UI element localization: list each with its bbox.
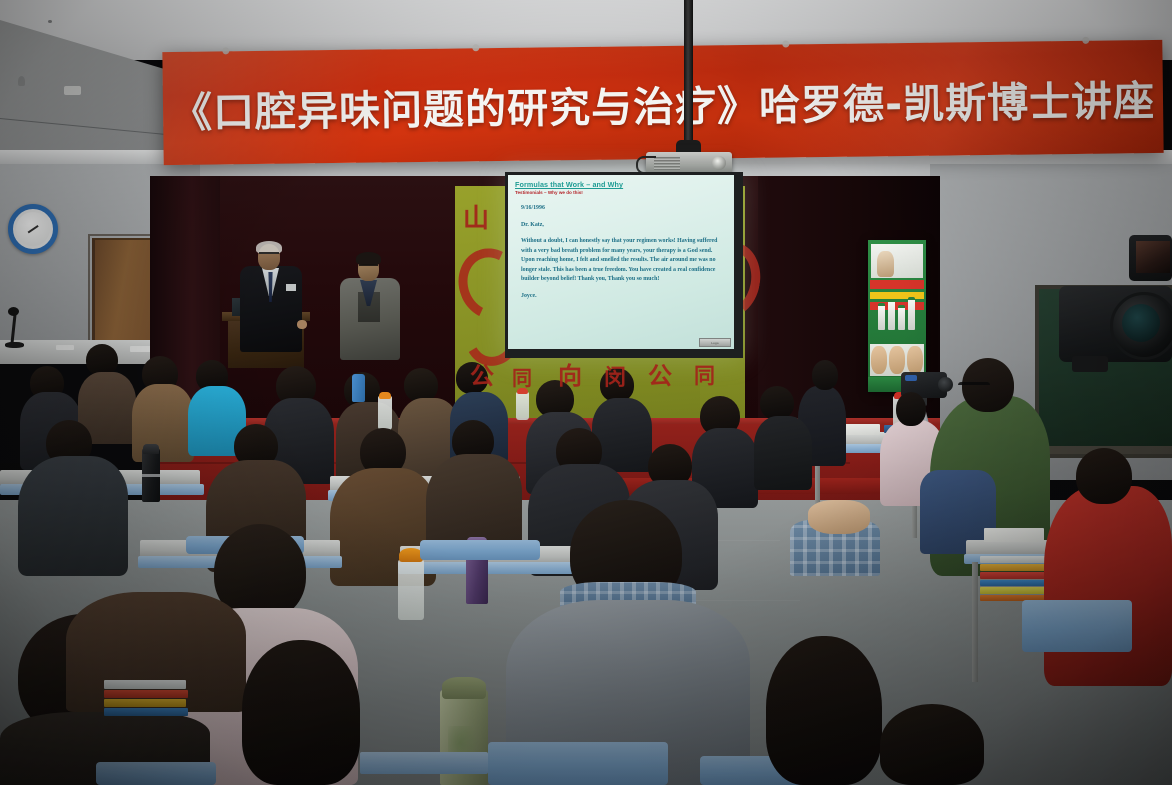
poster-product-bottle <box>898 305 905 330</box>
projection-screen-frame: Formulas that Work – and Why Testimonial… <box>505 172 743 358</box>
event-banner: 《口腔异味问题的研究与治疗》哈罗德-凯斯博士讲座 <box>162 40 1163 165</box>
attendee-torso <box>592 398 652 472</box>
backdrop-calligraphy: 山 <box>463 198 489 235</box>
backdrop-calligraphy: 公 <box>470 356 494 391</box>
ceiling-light-fixture <box>64 86 81 95</box>
attendee-head <box>896 392 926 426</box>
camcorder-panel <box>905 375 917 381</box>
thermos-cap <box>442 677 486 699</box>
slide-salutation: Dr. Katz, <box>521 221 727 231</box>
poster-product-bottle <box>908 297 915 330</box>
poster-doctor-photo <box>877 251 894 277</box>
ceiling-fitting-icon <box>48 20 52 23</box>
backdrop-calligraphy: 同 <box>694 360 715 390</box>
slide-signature: Joyce. <box>521 292 727 302</box>
attendee-head <box>812 360 838 390</box>
projection-screen: Formulas that Work – and Why Testimonial… <box>508 175 734 349</box>
book <box>104 708 188 716</box>
ceiling-speaker-icon <box>18 76 25 86</box>
broadcast-camera-lens-ring <box>1122 304 1160 342</box>
projector-mount-pole <box>684 0 693 148</box>
papers-on-desk <box>840 424 880 435</box>
attendee-torso <box>754 416 812 490</box>
chair-back <box>96 762 216 785</box>
slide-title: Formulas that Work – and Why <box>515 180 727 189</box>
attendee-head <box>760 386 794 420</box>
chair-back <box>1022 600 1132 652</box>
water-bottle <box>378 396 392 430</box>
camera-viewfinder-screen <box>1136 241 1170 273</box>
book <box>104 690 188 698</box>
slide-subtitle: Testimonials – Why we do this! <box>515 190 727 195</box>
desk-edge <box>360 752 488 774</box>
poster-header-panel <box>871 244 923 278</box>
desk-leg <box>972 562 978 682</box>
wall-clock-icon <box>8 204 58 254</box>
backdrop-calligraphy: 同 <box>512 362 532 391</box>
book <box>104 699 186 707</box>
backdrop-calligraphy: 闵 <box>604 360 626 392</box>
broadcast-camera-mount <box>1072 356 1108 372</box>
thermos-band <box>142 474 160 477</box>
glasses-icon <box>958 382 990 394</box>
thermos <box>352 374 365 402</box>
poster-product-bottle <box>878 303 885 330</box>
water-bottle <box>398 560 424 620</box>
attendee-head <box>880 704 984 785</box>
desk-object <box>130 346 152 352</box>
water-bottle <box>516 392 529 420</box>
attendee-torso <box>18 456 128 576</box>
slide-testimonial-text: Without a doubt, I can honestly say that… <box>521 237 727 285</box>
attendee-head <box>242 640 360 785</box>
book <box>104 680 186 689</box>
attendee-head <box>404 368 438 402</box>
banner-title-text: 《口腔异味问题的研究与治疗》哈罗德-凯斯博士讲座 <box>162 40 1163 169</box>
poster-face <box>889 346 905 374</box>
camcorder-lens-icon <box>938 377 953 392</box>
bottle-cap-icon <box>379 392 391 399</box>
poster-red-band <box>870 280 924 289</box>
microphone-head-icon <box>8 307 19 316</box>
chair-back <box>420 540 540 560</box>
lecture-hall-photo: 《口腔异味问题的研究与治疗》哈罗德-凯斯博士讲座 山 同 山 同 公 同 向 闵… <box>0 0 1172 785</box>
desk-object <box>56 345 74 350</box>
poster-face <box>871 346 887 374</box>
clock-face <box>16 212 50 246</box>
slide-logo: Logo <box>699 338 731 347</box>
product-rollup-poster <box>868 240 926 392</box>
speaker-hand <box>297 320 307 329</box>
thermos-cap <box>143 444 159 454</box>
attendee-torso <box>1044 486 1172 686</box>
backdrop-calligraphy: 公 <box>648 356 672 391</box>
chair-back <box>488 742 668 785</box>
poster-yellow-band <box>870 292 924 299</box>
attendee-arm <box>808 500 870 534</box>
speaker-glasses-icon <box>359 264 378 271</box>
projector-vent <box>654 157 680 170</box>
speaker-glasses-icon <box>259 252 279 259</box>
papers-on-desk <box>984 528 1044 542</box>
attendee-head <box>1076 448 1132 504</box>
slide-body: 9/16/1996 Dr. Katz, Without a doubt, I c… <box>521 204 727 302</box>
slide-date: 9/16/1996 <box>521 204 727 214</box>
projector-lens-icon <box>712 156 726 170</box>
attendee-head <box>766 636 882 785</box>
microphone-base <box>5 342 24 348</box>
speaker-pocket-square <box>286 284 296 291</box>
poster-face <box>907 346 923 374</box>
poster-product-bottle <box>888 299 895 330</box>
backdrop-calligraphy: 向 <box>558 356 582 391</box>
